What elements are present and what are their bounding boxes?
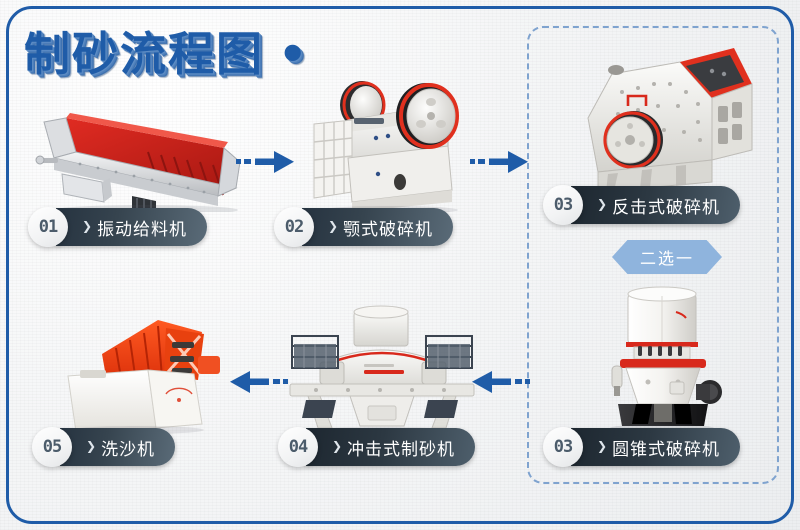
page-title-text: 制砂流程图 (24, 27, 264, 81)
step-label-tag: ❯ 颚式破碎机 (302, 208, 453, 246)
arrow-feeder-to-jaw (236, 148, 296, 176)
step-number-badge: 02 (274, 207, 314, 247)
step-number-badge: 05 (32, 427, 72, 467)
step-label-tag: ❯ 洗沙机 (60, 428, 175, 466)
arrow-vsi-to-washer (228, 368, 288, 396)
machine-jaw-crusher (300, 62, 470, 214)
caption-step-4[interactable]: 04 ❯ 冲击式制砂机 (278, 428, 475, 466)
step-label-text: 冲击式制砂机 (347, 435, 455, 460)
step-number-badge: 03 (543, 185, 583, 225)
step-number-badge: 04 (278, 427, 318, 467)
step-number-badge: 01 (28, 207, 68, 247)
chevron-right-icon: ❯ (597, 440, 607, 452)
choose-one-badge: 二选一 (612, 240, 722, 274)
step-label-text: 洗沙机 (101, 435, 155, 460)
machine-sand-washer (62, 308, 228, 434)
page-title: 制砂流程图• (24, 18, 309, 84)
step-label-tag: ❯ 反击式破碎机 (571, 186, 740, 224)
step-label-text: 振动给料机 (97, 215, 187, 240)
step-label-text: 圆锥式破碎机 (612, 435, 720, 460)
step-label-text: 颚式破碎机 (343, 215, 433, 240)
step-label-tag: ❯ 圆锥式破碎机 (571, 428, 740, 466)
chevron-right-icon: ❯ (82, 220, 92, 232)
flowchart-canvas: 制砂流程图• (0, 0, 800, 530)
caption-step-5[interactable]: 05 ❯ 洗沙机 (32, 428, 175, 466)
caption-step-1[interactable]: 01 ❯ 振动给料机 (28, 208, 207, 246)
chevron-right-icon: ❯ (328, 220, 338, 232)
caption-step-3-cone[interactable]: 03 ❯ 圆锥式破碎机 (543, 428, 740, 466)
arrow-jaw-to-impact (470, 148, 530, 176)
chevron-right-icon: ❯ (597, 198, 607, 210)
step-label-tag: ❯ 振动给料机 (56, 208, 207, 246)
machine-vibrating-feeder (28, 96, 254, 212)
machine-cone-crusher (592, 278, 744, 430)
step-label-text: 反击式破碎机 (612, 193, 720, 218)
caption-step-3-impact[interactable]: 03 ❯ 反击式破碎机 (543, 186, 740, 224)
machine-impact-crusher (572, 40, 754, 200)
step-number-badge: 03 (543, 427, 583, 467)
machine-vsi-sand-maker (276, 300, 488, 434)
chevron-right-icon: ❯ (86, 440, 96, 452)
chevron-right-icon: ❯ (332, 440, 342, 452)
step-label-tag: ❯ 冲击式制砂机 (306, 428, 475, 466)
choose-one-label: 二选一 (640, 245, 694, 269)
caption-step-2[interactable]: 02 ❯ 颚式破碎机 (274, 208, 453, 246)
